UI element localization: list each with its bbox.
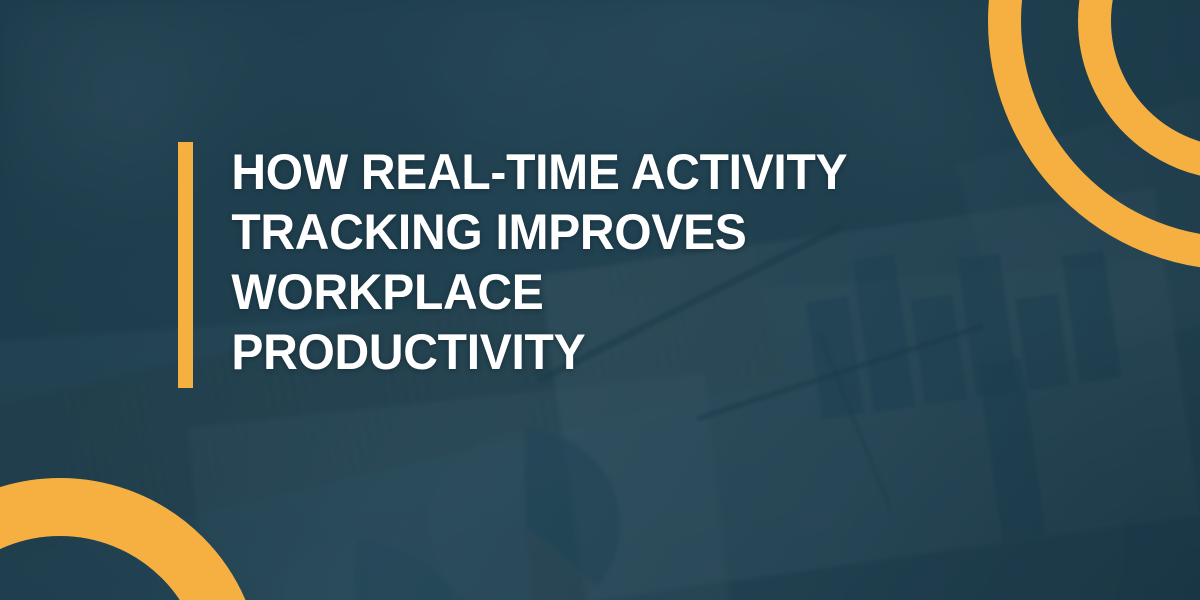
page-title: HOW REAL-TIME ACTIVITY TRACKING IMPROVES… [193,142,847,388]
blog-banner: HOW REAL-TIME ACTIVITY TRACKING IMPROVES… [0,0,1200,600]
headline-block: HOW REAL-TIME ACTIVITY TRACKING IMPROVES… [178,142,875,388]
vertical-accent-bar [178,142,193,388]
